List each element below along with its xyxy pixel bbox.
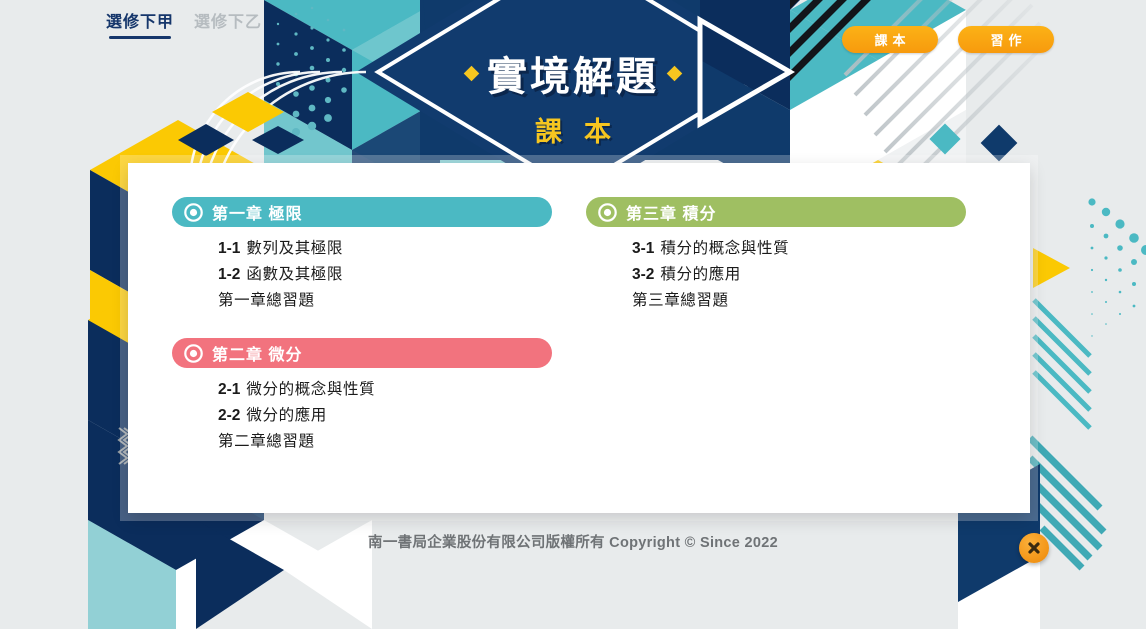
- chapter-item-1-1[interactable]: 1-1數列及其極限: [218, 236, 552, 262]
- close-button[interactable]: [1019, 533, 1049, 563]
- chapter-item-3-review[interactable]: 第三章總習題: [632, 288, 966, 314]
- chapter-columns: 第一章 極限 1-1數列及其極限 1-2函數及其極限 第一章總習題: [172, 197, 986, 479]
- close-x-icon: [1026, 540, 1042, 556]
- target-icon: [184, 203, 203, 222]
- item-label: 第一章總習題: [218, 292, 315, 309]
- tab-label: 選修下甲: [106, 14, 174, 31]
- footer-copyright: 南一書局企業股份有限公司版權所有 Copyright © Since 2022: [0, 531, 1146, 552]
- chapter-1: 第一章 極限 1-1數列及其極限 1-2函數及其極限 第一章總習題: [172, 197, 552, 314]
- chapter-3-title: 第三章 積分: [626, 200, 716, 224]
- chapter-list-card: 第一章 極限 1-1數列及其極限 1-2函數及其極限 第一章總習題: [128, 163, 1030, 513]
- item-number: 3-1: [632, 240, 654, 257]
- chapter-1-items: 1-1數列及其極限 1-2函數及其極限 第一章總習題: [172, 227, 552, 314]
- item-number: 1-2: [218, 266, 240, 283]
- target-icon: [598, 203, 617, 222]
- chapter-column-right: 第三章 積分 3-1積分的概念與性質 3-2積分的應用 第三章總習題: [586, 197, 966, 479]
- item-label: 積分的應用: [660, 266, 741, 283]
- textbook-button[interactable]: 課本: [842, 26, 938, 53]
- item-label: 微分的概念與性質: [246, 381, 375, 398]
- chapter-item-2-2[interactable]: 2-2微分的應用: [218, 403, 552, 429]
- item-number: 2-1: [218, 381, 240, 398]
- workbook-button[interactable]: 習作: [958, 26, 1054, 53]
- item-label: 微分的應用: [246, 407, 327, 424]
- item-number: 3-2: [632, 266, 654, 283]
- target-icon: [184, 344, 203, 363]
- chapter-item-3-2[interactable]: 3-2積分的應用: [632, 262, 966, 288]
- chapter-2: 第二章 微分 2-1微分的概念與性質 2-2微分的應用 第二章總習題: [172, 338, 552, 455]
- item-number: 1-1: [218, 240, 240, 257]
- tab-xuanxiu-xia-yi[interactable]: 選修下乙: [192, 12, 264, 43]
- item-label: 第二章總習題: [218, 433, 315, 450]
- chapter-item-1-2[interactable]: 1-2函數及其極限: [218, 262, 552, 288]
- app-root: 選修下甲 選修下乙 課本 習作 實境解題 課本: [0, 0, 1146, 629]
- chapter-column-left: 第一章 極限 1-1數列及其極限 1-2函數及其極限 第一章總習題: [172, 197, 552, 479]
- chapter-3-items: 3-1積分的概念與性質 3-2積分的應用 第三章總習題: [586, 227, 966, 314]
- item-label: 數列及其極限: [246, 240, 343, 257]
- chapter-3-header[interactable]: 第三章 積分: [586, 197, 966, 227]
- tab-label: 選修下乙: [194, 14, 262, 31]
- item-label: 第三章總習題: [632, 292, 729, 309]
- chapter-2-items: 2-1微分的概念與性質 2-2微分的應用 第二章總習題: [172, 368, 552, 455]
- resource-buttons: 課本 習作: [842, 26, 1054, 53]
- chapter-item-2-1[interactable]: 2-1微分的概念與性質: [218, 377, 552, 403]
- chapter-item-3-1[interactable]: 3-1積分的概念與性質: [632, 236, 966, 262]
- tab-active-underline: [109, 36, 171, 39]
- chapter-item-2-review[interactable]: 第二章總習題: [218, 429, 552, 455]
- chapter-1-header[interactable]: 第一章 極限: [172, 197, 552, 227]
- chapter-1-title: 第一章 極限: [212, 200, 302, 224]
- tab-xuanxiu-xia-jia[interactable]: 選修下甲: [104, 12, 176, 43]
- item-number: 2-2: [218, 407, 240, 424]
- chapter-3: 第三章 積分 3-1積分的概念與性質 3-2積分的應用 第三章總習題: [586, 197, 966, 314]
- item-label: 積分的概念與性質: [660, 240, 789, 257]
- chapter-2-title: 第二章 微分: [212, 341, 302, 365]
- chapter-2-header[interactable]: 第二章 微分: [172, 338, 552, 368]
- item-label: 函數及其極限: [246, 266, 343, 283]
- course-tabs: 選修下甲 選修下乙: [104, 12, 264, 43]
- chapter-item-1-review[interactable]: 第一章總習題: [218, 288, 552, 314]
